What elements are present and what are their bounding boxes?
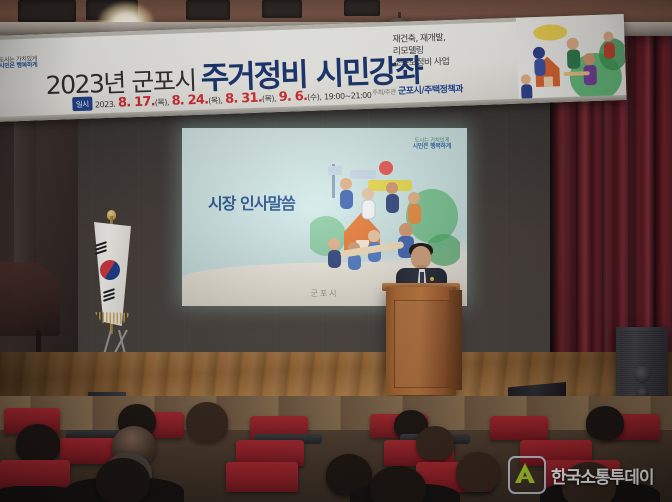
press-logo-icon (508, 456, 546, 494)
audience-shoulders (0, 486, 80, 502)
audience-head (186, 402, 228, 442)
ceiling-panel (18, 0, 76, 22)
audience-back-wall (0, 396, 672, 430)
presenter-lapel-badge (430, 277, 434, 281)
audience-head (96, 458, 150, 502)
seat (490, 416, 548, 440)
seat (226, 462, 298, 492)
audience-head (586, 406, 624, 440)
watermark-text: 한국소통투데이 (551, 463, 653, 488)
audience-head (16, 424, 60, 464)
podium-front-panel (394, 300, 450, 388)
ceiling-panel (186, 0, 230, 20)
ceiling-panel (344, 0, 380, 16)
logo-chevron-icon (513, 461, 537, 485)
audience-head (456, 452, 500, 492)
watermark: 한국소통투데이 (508, 456, 653, 494)
ceiling-panel (262, 0, 302, 18)
audience-head (416, 426, 454, 460)
piano-silhouette (0, 262, 60, 336)
presentation-photo-scene: 도시는 가치있게 시민은 행복하게 2023년 군포시 주거정비 시민강좌 재건… (0, 0, 672, 502)
pa-speaker-woofer (634, 366, 651, 383)
audience-head (370, 466, 426, 502)
podium-side-panel (449, 290, 462, 390)
